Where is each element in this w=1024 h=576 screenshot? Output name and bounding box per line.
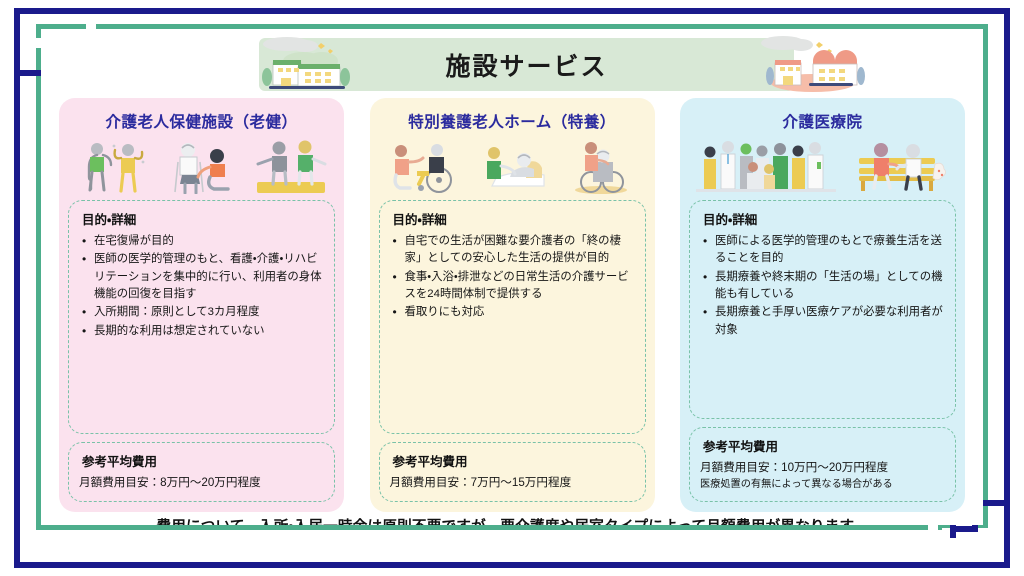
cost-heading-roken: 参考平均費用 (82, 451, 324, 470)
facility-art-tokuyo (379, 136, 646, 194)
detail-heading-iryoin: 目的・詳細 (703, 209, 945, 228)
facility-card-iryoin[interactable]: 介護医療院 (680, 98, 965, 512)
list-item: 長期的な利用は想定されていない (94, 323, 324, 340)
bench-conversation-icon (849, 138, 949, 194)
bedside-care-icon (472, 138, 552, 194)
cost-line-tokuyo: 月額費用目安：7万円〜15万円程度 (390, 475, 635, 492)
facility-art-roken (68, 136, 335, 194)
detail-list-roken: 在宅復帰が目的 医師の医学的管理のもと、看護・介護・リハビリテーションを集中的に… (79, 233, 324, 340)
list-item: 医師による医学的管理のもとで療養生活を送ることを目的 (715, 233, 945, 268)
cost-box-tokuyo: 参考平均費用 月額費用目安：7万円〜15万円程度 (379, 442, 646, 502)
facility-art-iryoin (689, 136, 956, 194)
detail-heading-tokuyo: 目的・詳細 (393, 209, 635, 228)
footer-note: 費用について、入所・入居一時金は原則不要ですが、要介護度や居室タイプによって月額… (41, 515, 983, 525)
list-item: 自宅での生活が困難な要介護者の「終の棲家」としての安心した生活の提供が目的 (405, 233, 635, 268)
cost-note-iryoin: 医療処置の有無によって異なる場合がある (700, 478, 945, 492)
wheelchair-push-icon (561, 138, 641, 194)
frame-weave-mask-bottom-right-h (942, 528, 1004, 538)
cost-line-roken: 月額費用目安：8万円〜20万円程度 (79, 475, 324, 492)
detail-heading-roken: 目的・詳細 (82, 209, 324, 228)
detail-box-iryoin: 目的・詳細 医師による医学的管理のもとで療養生活を送ることを目的 長期療養や終末… (689, 200, 956, 419)
list-item: 在宅復帰が目的 (94, 233, 324, 250)
cost-heading-iryoin: 参考平均費用 (703, 436, 945, 455)
cost-line-iryoin: 月額費用目安：10万円〜20万円程度 (700, 460, 945, 477)
facility-title-roken: 介護老人保健施設（老健） (68, 110, 335, 132)
stretching-exercise-icon (73, 138, 153, 194)
cost-box-iryoin: 参考平均費用 月額費用目安：10万円〜20万円程度 医療処置の有無によって異なる… (689, 427, 956, 502)
facility-title-tokuyo: 特別養護老人ホーム（特養） (379, 110, 646, 132)
list-item: 医師の医学的管理のもと、看護・介護・リハビリテーションを集中的に行い、利用者の身… (94, 251, 324, 303)
list-item: 長期療養と手厚い医療ケアが必要な利用者が対象 (715, 304, 945, 339)
detail-list-tokuyo: 自宅での生活が困難な要介護者の「終の棲家」としての安心した生活の提供が目的 食事… (390, 233, 635, 322)
cost-heading-tokuyo: 参考平均費用 (393, 451, 635, 470)
detail-box-tokuyo: 目的・詳細 自宅での生活が困難な要介護者の「終の棲家」としての安心した生活の提供… (379, 200, 646, 434)
detail-box-roken: 目的・詳細 在宅復帰が目的 医師の医学的管理のもと、看護・介護・リハビリテーショ… (68, 200, 335, 434)
wheelchair-assistance-icon (383, 138, 463, 194)
list-item: 長期療養や終末期の「生活の場」としての機能も有している (715, 269, 945, 304)
list-item: 食事・入浴・排泄などの日常生活の介護サービスを24時間体制で提供する (405, 269, 635, 304)
facility-card-tokuyo[interactable]: 特別養護老人ホーム（特養） (370, 98, 655, 512)
infographic-canvas: 施設サービス 介護老人保健施設（老健） (41, 29, 983, 525)
detail-list-iryoin: 医師による医学的管理のもとで療養生活を送ることを目的 長期療養や終末期の「生活の… (700, 233, 945, 339)
facility-columns: 介護老人保健施設（老健） (41, 98, 983, 512)
list-item: 入所期間：原則として3カ月程度 (94, 304, 324, 321)
facility-title-iryoin: 介護医療院 (689, 110, 956, 132)
facility-card-roken[interactable]: 介護老人保健施設（老健） (59, 98, 344, 512)
medical-staff-group-icon (696, 138, 836, 194)
seated-rehab-session-icon (162, 138, 242, 194)
page-title: 施設サービス (259, 38, 794, 91)
list-item: 看取りにも対応 (405, 304, 635, 321)
cost-box-roken: 参考平均費用 月額費用目安：8万円〜20万円程度 (68, 442, 335, 502)
walking-support-icon (251, 138, 331, 194)
